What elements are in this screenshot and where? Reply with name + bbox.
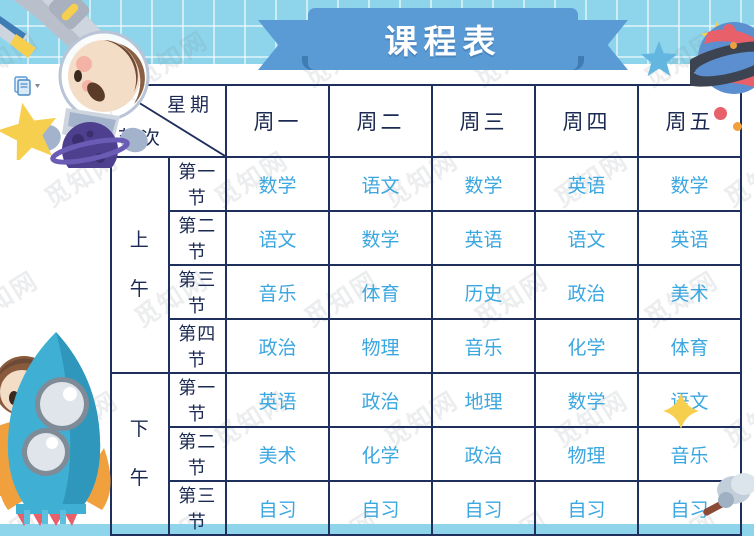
subject-label: 化学 [361,446,399,467]
subject-label: 自习 [361,500,399,521]
day-header-4: 周四 [535,85,638,157]
subject-label: 英语 [567,176,605,197]
decor-dot-orange [730,42,737,49]
subject-label: 数学 [258,176,296,197]
table-row: 上午第一节数学语文数学英语数学 [111,157,741,211]
table-row: 第二节语文数学英语语文英语 [111,211,741,265]
subject-label: 政治 [464,446,502,467]
banner-center-panel: 课程表 [308,8,578,70]
period-cell: 第一节 [169,373,227,427]
subject-cell[interactable]: 政治 [432,427,535,481]
subject-label: 音乐 [464,338,502,359]
yellow-sparkle-icon [663,393,699,429]
subject-label: 地理 [464,392,502,413]
day-header-3: 周三 [432,85,535,157]
subject-cell[interactable]: 语文 [329,157,432,211]
table-row: 第四节政治物理音乐化学体育 [111,319,741,373]
subject-cell[interactable]: 自习 [432,481,535,535]
period-label: 第三节 [178,270,216,316]
half-day-char: 午 [112,265,168,314]
subject-cell[interactable]: 化学 [535,319,638,373]
table-row: 第三节自习自习自习自习自习 [111,481,741,535]
subject-label: 英语 [258,392,296,413]
subject-label: 美术 [670,284,708,305]
title-banner: 课程表 [258,8,628,86]
subject-label: 音乐 [670,446,708,467]
subject-label: 体育 [670,338,708,359]
day-header-label: 周一 [254,110,302,134]
day-header-label: 周二 [357,110,405,134]
table-row: 下午第一节英语政治地理数学语文 [111,373,741,427]
subject-label: 自习 [567,500,605,521]
subject-cell[interactable]: 地理 [432,373,535,427]
subject-label: 数学 [361,230,399,251]
subject-cell[interactable]: 物理 [535,427,638,481]
subject-label: 数学 [567,392,605,413]
day-header-1: 周一 [226,85,329,157]
subject-label: 语文 [567,230,605,251]
class-schedule-table: 星期节次周一周二周三周四周五上午第一节数学语文数学英语数学第二节语文数学英语语文… [110,84,742,536]
subject-cell[interactable]: 数学 [226,157,329,211]
subject-cell[interactable]: 语文 [535,211,638,265]
page-title: 课程表 [385,15,502,63]
subject-cell[interactable]: 物理 [329,319,432,373]
subject-label: 历史 [464,284,502,305]
subject-label: 数学 [464,176,502,197]
subject-cell[interactable]: 自习 [535,481,638,535]
subject-cell[interactable]: 美术 [226,427,329,481]
subject-cell[interactable]: 音乐 [432,319,535,373]
subject-label: 物理 [567,446,605,467]
blue-star-icon [640,40,678,78]
period-cell: 第二节 [169,211,227,265]
day-header-label: 周四 [563,110,611,134]
subject-label: 自习 [258,500,296,521]
subject-cell[interactable]: 政治 [535,265,638,319]
subject-cell[interactable]: 历史 [432,265,535,319]
period-label: 第四节 [178,324,216,370]
day-header-2: 周二 [329,85,432,157]
decor-dot-red-2 [714,107,727,120]
subject-cell[interactable]: 语文 [226,211,329,265]
subject-label: 音乐 [258,284,296,305]
half-day-char: 上 [112,216,168,265]
subject-label: 数学 [670,176,708,197]
subject-label: 体育 [361,284,399,305]
ringed-planet-illustration [690,10,754,110]
decor-dot-red [723,24,735,36]
subject-cell[interactable]: 体育 [329,265,432,319]
period-label: 第一节 [178,378,216,424]
table-row: 第二节美术化学政治物理音乐 [111,427,741,481]
subject-cell[interactable]: 政治 [329,373,432,427]
subject-label: 英语 [464,230,502,251]
subject-label: 英语 [670,230,708,251]
subject-cell[interactable]: 政治 [226,319,329,373]
subject-cell[interactable]: 数学 [432,157,535,211]
subject-cell[interactable]: 体育 [638,319,741,373]
subject-cell[interactable]: 化学 [329,427,432,481]
decor-dot-orange-2 [733,122,742,131]
subject-cell[interactable]: 数学 [329,211,432,265]
day-header-label: 周五 [666,110,714,134]
subject-label: 政治 [258,338,296,359]
subject-cell[interactable]: 音乐 [226,265,329,319]
period-cell: 第四节 [169,319,227,373]
period-cell: 第二节 [169,427,227,481]
subject-cell[interactable]: 英语 [226,373,329,427]
subject-cell[interactable]: 自习 [329,481,432,535]
table-row: 第三节音乐体育历史政治美术 [111,265,741,319]
subject-label: 化学 [567,338,605,359]
subject-cell[interactable]: 英语 [535,157,638,211]
document-copy-icon[interactable] [14,76,44,96]
period-label: 第二节 [178,432,216,478]
subject-cell[interactable]: 英语 [638,211,741,265]
subject-cell[interactable]: 数学 [535,373,638,427]
subject-label: 语文 [258,230,296,251]
period-label: 第一节 [178,162,216,208]
telescope-illustration [700,470,754,524]
period-cell: 第三节 [169,265,227,319]
period-cell: 第一节 [169,157,227,211]
subject-cell[interactable]: 数学 [638,157,741,211]
subject-cell[interactable]: 英语 [432,211,535,265]
day-header-label: 周三 [460,110,508,134]
period-label: 第二节 [178,216,216,262]
subject-cell[interactable]: 自习 [226,481,329,535]
rocket-illustration [0,330,144,526]
subject-label: 美术 [258,446,296,467]
table-header-row: 星期节次周一周二周三周四周五 [111,85,741,157]
subject-label: 政治 [567,284,605,305]
yellow-star-left-icon [0,100,58,160]
period-label: 第三节 [178,486,216,532]
subject-cell[interactable]: 美术 [638,265,741,319]
subject-label: 自习 [464,500,502,521]
subject-label: 物理 [361,338,399,359]
subject-label: 语文 [361,176,399,197]
corner-week-label: 星期 [167,90,213,117]
period-cell: 第三节 [169,481,227,535]
subject-label: 政治 [361,392,399,413]
